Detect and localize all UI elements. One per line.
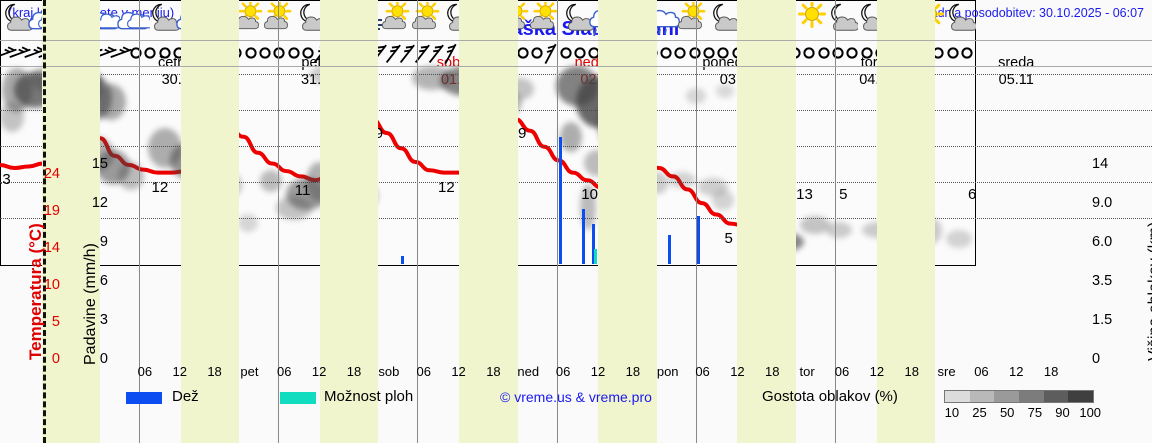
cloud-density-blob bbox=[276, 196, 312, 220]
precipitation-bar bbox=[401, 256, 404, 264]
cloud-height-tick: 9.0 bbox=[1092, 195, 1128, 211]
x-axis-tick: 06 bbox=[269, 364, 299, 379]
temperature-tick: 0 bbox=[34, 351, 60, 367]
precipitation-tick: 3 bbox=[84, 312, 108, 328]
forecast-plot: 131912181119121910135135146 bbox=[0, 0, 976, 266]
x-axis-tick: 18 bbox=[200, 364, 230, 379]
cloud-height-tick: 6.0 bbox=[1092, 234, 1128, 250]
precipitation-tick: 6 bbox=[84, 273, 108, 289]
precipitation-tick: 12 bbox=[84, 195, 108, 211]
copyright-link[interactable]: © vreme.us & vreme.pro bbox=[500, 389, 652, 405]
cloud-density-tick: 50 bbox=[993, 405, 1021, 420]
cloud-density-tick: 75 bbox=[1021, 405, 1049, 420]
cloud-density-legend-label: Gostota oblakov (%) bbox=[762, 388, 898, 405]
cloud-density-tick: 25 bbox=[966, 405, 994, 420]
precipitation-axis-label: Padavine (mm/h) bbox=[82, 243, 100, 365]
x-axis-tick: 06 bbox=[130, 364, 160, 379]
x-axis-tick: 18 bbox=[1036, 364, 1066, 379]
cloud-density-blob bbox=[0, 102, 24, 132]
cloud-height-tick: 0 bbox=[1092, 351, 1128, 367]
x-axis-tick: 18 bbox=[478, 364, 508, 379]
temperature-tick: 14 bbox=[34, 240, 60, 256]
cloud-density-ticks: 1025507590100 bbox=[938, 405, 1104, 420]
precipitation-tick: 15 bbox=[84, 156, 108, 172]
x-axis-tick: pet bbox=[234, 364, 264, 379]
x-axis-tick: 06 bbox=[548, 364, 578, 379]
x-axis-tick: tor bbox=[792, 364, 822, 379]
precipitation-bar bbox=[559, 137, 562, 264]
x-axis-tick: 18 bbox=[757, 364, 787, 379]
x-axis-tick: 06 bbox=[966, 364, 996, 379]
cloud-density-tick: 90 bbox=[1049, 405, 1077, 420]
precipitation-bar bbox=[582, 209, 585, 264]
cloud-height-axis-label: Višina oblakov (km) bbox=[1146, 222, 1152, 361]
temperature-axis: Temperatura (°C) bbox=[6, 180, 30, 365]
precipitation-tick: 0 bbox=[84, 351, 108, 367]
cloud-density-step-4 bbox=[1019, 391, 1044, 402]
x-axis-tick: 18 bbox=[339, 364, 369, 379]
row-divider-2 bbox=[0, 66, 976, 67]
cloud-density-blob bbox=[712, 190, 734, 210]
rain-swatch bbox=[126, 392, 162, 404]
x-axis-tick: 12 bbox=[862, 364, 892, 379]
x-axis-tick: 06 bbox=[688, 364, 718, 379]
precipitation-bar bbox=[668, 235, 671, 264]
cloud-density-blob bbox=[96, 84, 126, 120]
cloud-height-tick: 3.5 bbox=[1092, 273, 1128, 289]
x-axis-tick: 12 bbox=[583, 364, 613, 379]
temperature-tick: 19 bbox=[34, 203, 60, 219]
precipitation-bar bbox=[594, 249, 597, 264]
cloud-density-blob bbox=[560, 122, 582, 152]
temperature-value-label: 6 bbox=[968, 186, 976, 203]
cloud-density-step-6 bbox=[1068, 391, 1093, 402]
precipitation-tick: 9 bbox=[84, 234, 108, 250]
row-divider-1 bbox=[0, 40, 976, 41]
temperature-value-label: 5 bbox=[839, 186, 847, 203]
x-axis-tick: 12 bbox=[165, 364, 195, 379]
temperature-tick: 24 bbox=[34, 166, 60, 182]
moon-cloud-icon bbox=[942, 2, 976, 38]
x-axis-tick: 18 bbox=[618, 364, 648, 379]
temperature-value-label: 11 bbox=[295, 182, 311, 199]
cloud-density-blob bbox=[946, 230, 972, 248]
cloud-density-step-1 bbox=[945, 391, 970, 402]
temperature-tick: 10 bbox=[34, 277, 60, 293]
x-axis-tick: sre bbox=[932, 364, 962, 379]
cloud-density-tick: 10 bbox=[938, 405, 966, 420]
cloud-height-tick: 1.5 bbox=[1092, 312, 1128, 328]
calm-wind-icon bbox=[953, 40, 976, 66]
precipitation-bar bbox=[697, 216, 700, 264]
cloud-density-step-5 bbox=[1044, 391, 1069, 402]
x-axis-tick: 12 bbox=[722, 364, 752, 379]
x-axis-tick: pon bbox=[653, 364, 683, 379]
cloud-density-blob bbox=[716, 84, 734, 98]
cloud-density-tick: 100 bbox=[1076, 405, 1104, 420]
x-axis-tick: sob bbox=[374, 364, 404, 379]
x-axis-tick: 12 bbox=[444, 364, 474, 379]
shower-legend-label: Možnost ploh bbox=[324, 388, 413, 405]
cloud-density-blob bbox=[238, 214, 258, 232]
cloud-density-step-2 bbox=[970, 391, 995, 402]
x-axis-tick: 18 bbox=[897, 364, 927, 379]
temperature-tick: 5 bbox=[34, 314, 60, 330]
temperature-value-label: 10 bbox=[581, 186, 598, 203]
cloud-density-blob bbox=[826, 222, 852, 238]
x-axis-tick: 06 bbox=[827, 364, 857, 379]
x-axis-tick: 12 bbox=[1001, 364, 1031, 379]
temperature-value-label: 13 bbox=[796, 186, 813, 203]
temperature-value-label: 5 bbox=[725, 230, 733, 247]
temperature-value-label: 12 bbox=[152, 179, 169, 196]
x-axis-tick: 12 bbox=[304, 364, 334, 379]
cloud-density-step-3 bbox=[994, 391, 1019, 402]
cloud-height-tick: 14 bbox=[1092, 156, 1128, 172]
temperature-value-label: 12 bbox=[438, 179, 455, 196]
shower-swatch bbox=[280, 392, 316, 404]
rain-legend-label: Dež bbox=[172, 388, 199, 405]
cloud-density-blob bbox=[668, 172, 696, 188]
x-axis-tick: 06 bbox=[409, 364, 439, 379]
x-axis-tick: ned bbox=[513, 364, 543, 379]
cloud-density-colorbar bbox=[944, 390, 1094, 403]
